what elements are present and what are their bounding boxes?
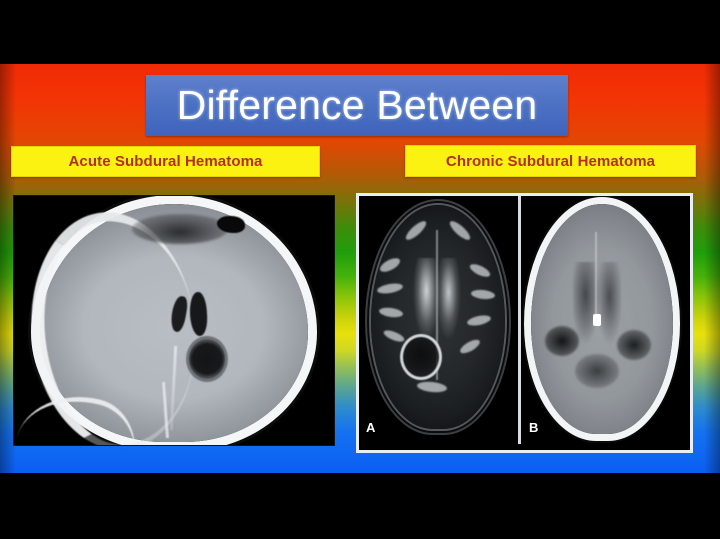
figure-acute-subdural-hematoma: [13, 195, 335, 446]
caption-chip-chronic: Chronic Subdural Hematoma: [405, 145, 696, 177]
figure-chronic-subdural-hematoma: A B: [356, 193, 693, 453]
letterbox-top-bar: [0, 0, 720, 64]
scan-subpanel-a: A: [359, 196, 518, 444]
frontal-lobe-shape: [132, 214, 228, 244]
occipital-horn-shape: [186, 336, 228, 382]
scan-label-b: B: [529, 420, 538, 435]
pneumocephalus-shape: [217, 216, 245, 233]
occipital-region-shape: [575, 354, 619, 388]
ct-scan-acute: [14, 196, 334, 445]
ct-midline-shape: [595, 232, 597, 324]
page-title: Difference Between: [177, 85, 538, 126]
pineal-calcification-shape: [593, 314, 601, 326]
temporal-region-right-shape: [617, 330, 651, 360]
slide-canvas: Difference Between Acute Subdural Hemato…: [0, 0, 720, 539]
letterbox-bottom-bar: [0, 473, 720, 539]
caption-chip-acute: Acute Subdural Hematoma: [11, 146, 320, 177]
temporal-region-left-shape: [545, 326, 579, 356]
chronic-collection-shape: [400, 334, 442, 380]
ct-ventricles-shape: [573, 262, 621, 348]
caption-label-chronic: Chronic Subdural Hematoma: [446, 153, 655, 170]
scan-label-a: A: [366, 420, 375, 435]
scan-subpanel-b: B: [521, 196, 684, 444]
caption-label-acute: Acute Subdural Hematoma: [68, 153, 262, 170]
title-banner: Difference Between: [146, 75, 568, 136]
